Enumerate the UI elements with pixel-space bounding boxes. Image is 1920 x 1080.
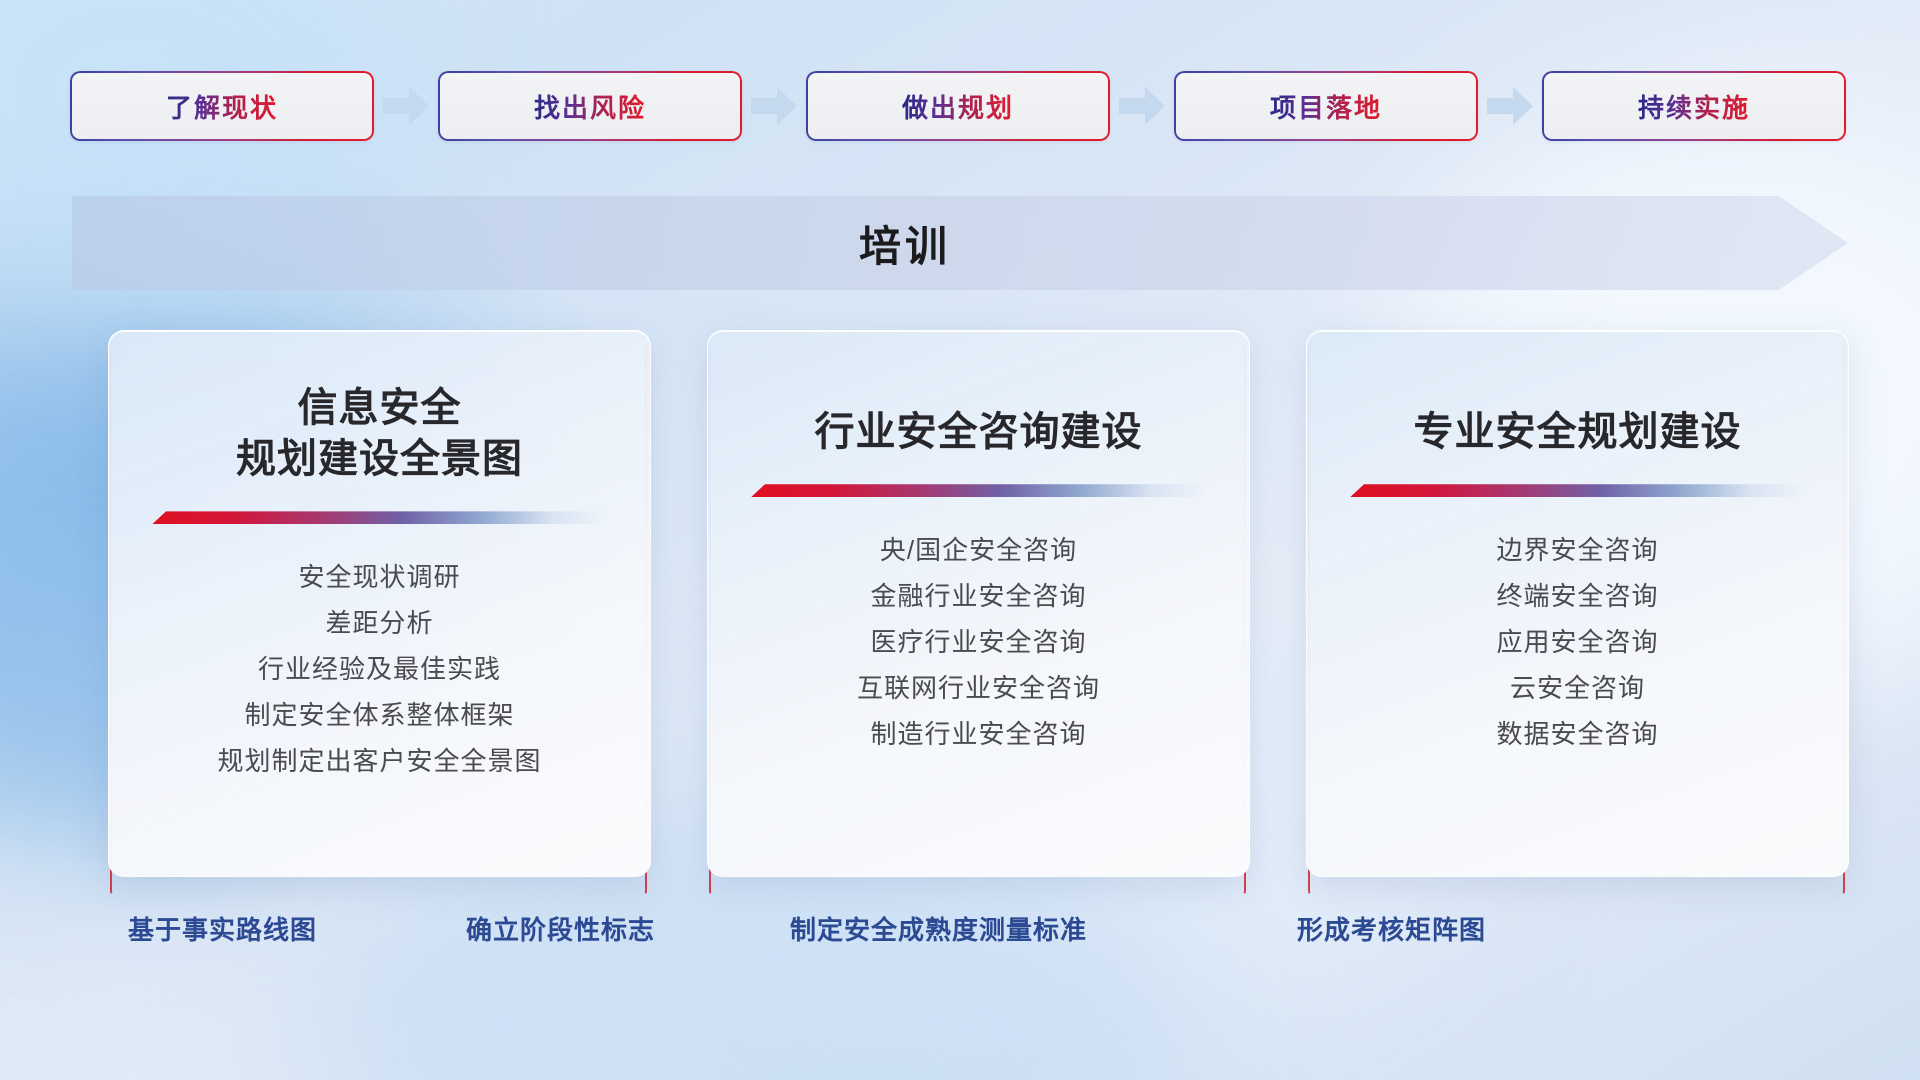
slide-canvas: 了解现状 找出风险 做出规划 项目落地	[0, 0, 1920, 1080]
list-item: 数据安全咨询	[1307, 711, 1848, 757]
caption-3: 制定安全成熟度测量标准	[790, 910, 1087, 947]
caption-1: 基于事实路线图	[128, 910, 317, 947]
card-title-3: 专业安全规划建设	[1414, 407, 1742, 458]
right-arrow-icon-3	[1110, 71, 1174, 141]
card-divider-1	[152, 511, 607, 524]
list-item: 金融行业安全咨询	[708, 573, 1249, 619]
list-item: 互联网行业安全咨询	[708, 665, 1249, 711]
card-wrap-3: 专业安全规划建设 边界安全咨询 终端安全咨询 应用安全咨询 云安全咨询 数据安全…	[1306, 330, 1847, 875]
list-item: 规划制定出客户安全全景图	[109, 738, 650, 784]
step-label-3: 做出规划	[902, 88, 1014, 125]
card-list-1: 安全现状调研 差距分析 行业经验及最佳实践 制定安全体系整体框架 规划制定出客户…	[109, 554, 650, 784]
step-box-4[interactable]: 项目落地	[1174, 71, 1478, 141]
card-1[interactable]: 信息安全 规划建设全景图 安全现状调研 差距分析 行业经验及最佳实践 制定安全体…	[108, 330, 651, 877]
gradient-bar-icon	[152, 511, 607, 524]
list-item: 行业经验及最佳实践	[109, 646, 650, 692]
list-item: 边界安全咨询	[1307, 527, 1848, 573]
card-title-1: 信息安全 规划建设全景图	[236, 383, 523, 485]
step-label-2: 找出风险	[534, 88, 646, 125]
step-box-5[interactable]: 持续实施	[1542, 71, 1846, 141]
list-item: 终端安全咨询	[1307, 573, 1848, 619]
card-2[interactable]: 行业安全咨询建设 央/国企安全咨询 金融行业安全咨询 医疗行业安全咨询 互联网行…	[707, 330, 1250, 877]
step-label-1: 了解现状	[166, 88, 278, 125]
right-arrow-icon-4	[1478, 71, 1542, 141]
card-3[interactable]: 专业安全规划建设 边界安全咨询 终端安全咨询 应用安全咨询 云安全咨询 数据安全…	[1306, 330, 1849, 877]
list-item: 安全现状调研	[109, 554, 650, 600]
card-list-3: 边界安全咨询 终端安全咨询 应用安全咨询 云安全咨询 数据安全咨询	[1307, 527, 1848, 757]
card-divider-3	[1350, 484, 1805, 497]
list-item: 差距分析	[109, 600, 650, 646]
list-item: 央/国企安全咨询	[708, 527, 1249, 573]
caption-4: 形成考核矩阵图	[1297, 910, 1486, 947]
card-list-2: 央/国企安全咨询 金融行业安全咨询 医疗行业安全咨询 互联网行业安全咨询 制造行…	[708, 527, 1249, 757]
right-arrow-icon-2	[742, 71, 806, 141]
step-label-5: 持续实施	[1638, 88, 1750, 125]
gradient-bar-icon	[1350, 484, 1805, 497]
list-item: 制定安全体系整体框架	[109, 692, 650, 738]
right-arrow-icon-1	[374, 71, 438, 141]
card-row: 信息安全 规划建设全景图 安全现状调研 差距分析 行业经验及最佳实践 制定安全体…	[108, 330, 1848, 875]
step-label-4: 项目落地	[1270, 88, 1382, 125]
training-banner: 培训	[72, 196, 1848, 290]
gradient-bar-icon	[751, 484, 1206, 497]
step-box-1[interactable]: 了解现状	[70, 71, 374, 141]
card-title-2: 行业安全咨询建设	[815, 407, 1143, 458]
list-item: 应用安全咨询	[1307, 619, 1848, 665]
caption-2: 确立阶段性标志	[466, 910, 655, 947]
list-item: 医疗行业安全咨询	[708, 619, 1249, 665]
list-item: 云安全咨询	[1307, 665, 1848, 711]
card-wrap-1: 信息安全 规划建设全景图 安全现状调研 差距分析 行业经验及最佳实践 制定安全体…	[108, 330, 649, 875]
step-box-3[interactable]: 做出规划	[806, 71, 1110, 141]
caption-row: 基于事实路线图 确立阶段性标志 制定安全成熟度测量标准 形成考核矩阵图	[0, 910, 1920, 960]
process-step-row: 了解现状 找出风险 做出规划 项目落地	[70, 70, 1850, 142]
card-divider-2	[751, 484, 1206, 497]
list-item: 制造行业安全咨询	[708, 711, 1249, 757]
card-wrap-2: 行业安全咨询建设 央/国企安全咨询 金融行业安全咨询 医疗行业安全咨询 互联网行…	[707, 330, 1248, 875]
step-box-2[interactable]: 找出风险	[438, 71, 742, 141]
training-banner-label: 培训	[72, 196, 1848, 290]
